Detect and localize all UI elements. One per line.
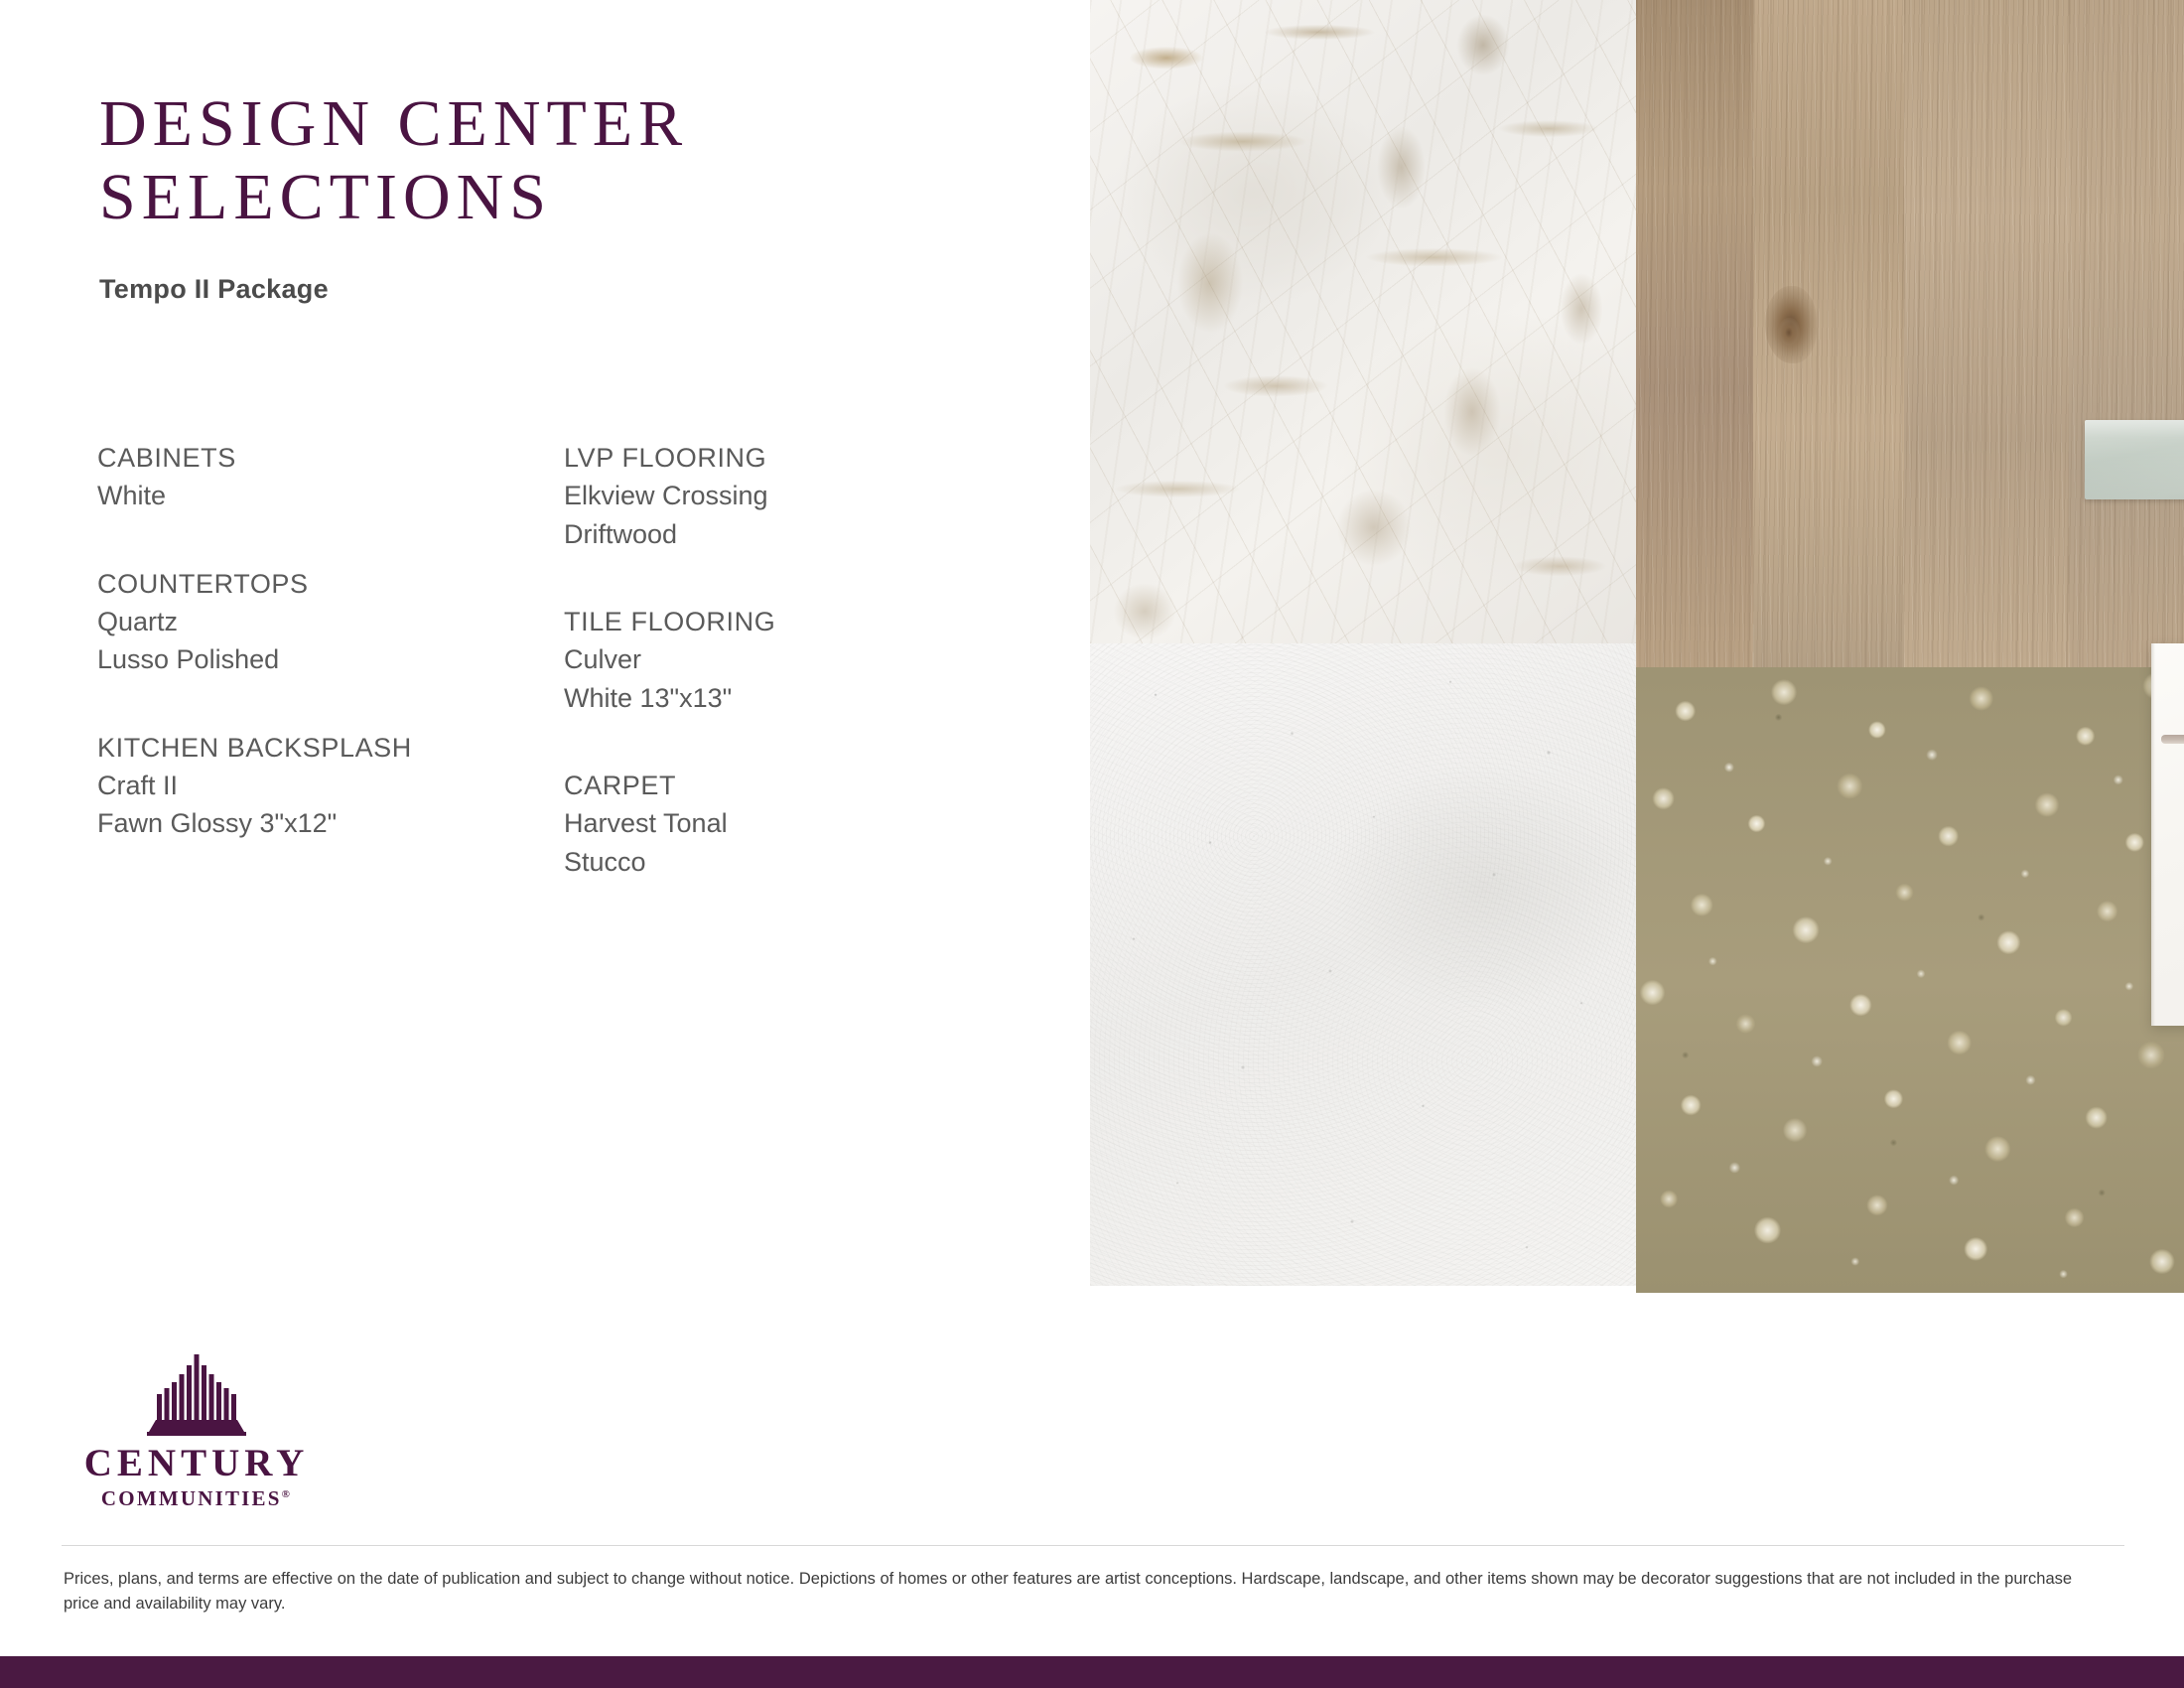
- selection-value: Craft II Fawn Glossy 3"x12": [97, 767, 564, 843]
- countertop-quartz-swatch: [1090, 0, 1636, 643]
- selection-value: Harvest Tonal Stucco: [564, 804, 971, 881]
- selection-item-tile-flooring: TILE FLOORING Culver White 13"x13": [564, 603, 971, 717]
- footer-divider: [62, 1545, 2124, 1546]
- selections-list: CABINETS White COUNTERTOPS Quartz Lusso …: [97, 439, 971, 881]
- lvp-flooring-swatch: [1636, 0, 2184, 667]
- selections-column-right: LVP FLOORING Elkview Crossing Driftwood …: [564, 439, 971, 881]
- material-swatch-mosaic: [1090, 0, 2184, 1301]
- selection-label: TILE FLOORING: [564, 603, 971, 640]
- cabinet-edge-left: [2151, 643, 2155, 1026]
- selection-item-carpet: CARPET Harvest Tonal Stucco: [564, 767, 971, 881]
- header-block: DESIGN CENTER SELECTIONS Tempo II Packag…: [99, 87, 973, 305]
- selection-value: Elkview Crossing Driftwood: [564, 477, 971, 553]
- building-skyline-icon: [131, 1348, 262, 1440]
- logo-wordmark: CENTURY: [68, 1444, 326, 1482]
- page-title: DESIGN CENTER SELECTIONS: [99, 87, 973, 234]
- disclaimer-text: Prices, plans, and terms are effective o…: [64, 1567, 2079, 1617]
- cabinet-door-swatch: [2151, 643, 2184, 1026]
- logo-tagline-text: COMMUNITIES: [101, 1486, 282, 1510]
- selection-item-cabinets: CABINETS White: [97, 439, 564, 515]
- package-subtitle: Tempo II Package: [99, 274, 973, 305]
- century-communities-logo: CENTURY COMMUNITIES®: [68, 1348, 326, 1509]
- selection-label: LVP FLOORING: [564, 439, 971, 477]
- selection-item-lvp-flooring: LVP FLOORING Elkview Crossing Driftwood: [564, 439, 971, 553]
- carpet-swatch: [1636, 667, 2184, 1293]
- logo-tagline: COMMUNITIES®: [68, 1488, 326, 1509]
- selection-label: CABINETS: [97, 439, 564, 477]
- selections-column-left: CABINETS White COUNTERTOPS Quartz Lusso …: [97, 439, 564, 881]
- design-center-selections-page: DESIGN CENTER SELECTIONS Tempo II Packag…: [0, 0, 2184, 1688]
- selection-item-kitchen-backsplash: KITCHEN BACKSPLASH Craft II Fawn Glossy …: [97, 729, 564, 843]
- backsplash-tile-swatch: [2085, 420, 2184, 499]
- selection-value: Quartz Lusso Polished: [97, 603, 564, 679]
- selection-label: COUNTERTOPS: [97, 565, 564, 603]
- selection-value: Culver White 13"x13": [564, 640, 971, 717]
- selection-item-countertops: COUNTERTOPS Quartz Lusso Polished: [97, 565, 564, 679]
- selection-value: White: [97, 477, 564, 514]
- footer-accent-bar: [0, 1656, 2184, 1688]
- cabinet-drawer-reveal: [2161, 735, 2184, 744]
- registered-trademark-icon: ®: [282, 1488, 292, 1500]
- selection-label: CARPET: [564, 767, 971, 804]
- tile-flooring-swatch: [1090, 643, 1636, 1286]
- selection-label: KITCHEN BACKSPLASH: [97, 729, 564, 767]
